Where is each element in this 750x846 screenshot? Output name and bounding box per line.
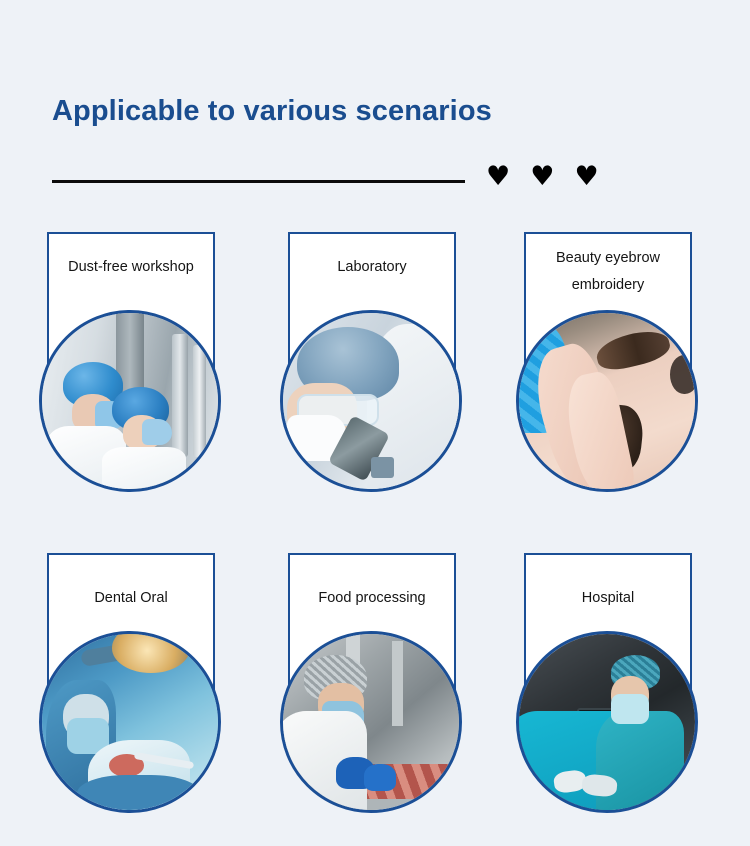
scenario-card-label: Beauty eyebrow embroidery: [526, 234, 690, 299]
scenario-card-label: Laboratory: [290, 234, 454, 281]
scenario-card-label: Dental Oral: [49, 555, 213, 612]
hospital-image: [519, 634, 695, 810]
scenario-card-photo: [39, 631, 221, 813]
food-processing-image: [283, 634, 459, 810]
scenario-card-photo: [516, 310, 698, 492]
scenario-card-photo: [39, 310, 221, 492]
beauty-eyebrow-embroidery-image: [519, 313, 695, 489]
scenario-card-label: Food processing: [290, 555, 454, 612]
scenario-card-label: Dust-free workshop: [49, 234, 213, 281]
scenario-card-photo: [280, 631, 462, 813]
scenario-card-grid: Dust-free workshop Laboratory Beauty eye…: [0, 0, 750, 846]
dental-oral-image: [42, 634, 218, 810]
scenario-card-label: Hospital: [526, 555, 690, 612]
scenario-card-photo: [280, 310, 462, 492]
scenario-card-photo: [516, 631, 698, 813]
dust-free-workshop-image: [42, 313, 218, 489]
laboratory-image: [283, 313, 459, 489]
